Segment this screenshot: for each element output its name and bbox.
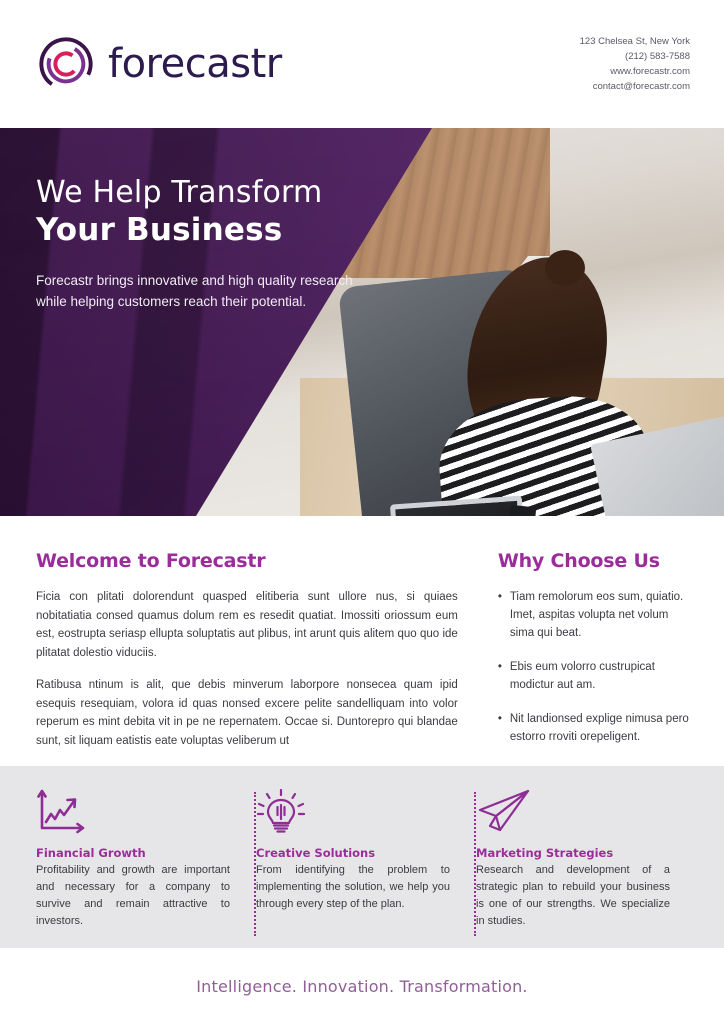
footer-tagline: Intelligence. Innovation. Transformation… [196,977,527,996]
contact-address: 123 Chelsea St, New York [580,34,690,49]
welcome-heading: Welcome to Forecastr [36,550,458,572]
page-header: forecastr 123 Chelsea St, New York (212)… [0,0,724,128]
feature-marketing-strategies: Marketing Strategies Research and develo… [476,788,694,948]
lightbulb-icon [256,788,450,840]
list-item: Tiam remolorum eos sum, quiatio. Imet, a… [498,588,694,642]
why-choose-column: Why Choose Us Tiam remolorum eos sum, qu… [498,550,694,766]
contact-email[interactable]: contact@forecastr.com [580,79,690,94]
welcome-paragraph-1: Ficia con plitati dolorendunt quasped el… [36,588,458,662]
hero-title-line-2: Your Business [36,213,366,249]
feature-creative-solutions: Creative Solutions From identifying the … [256,788,474,948]
content-section: Welcome to Forecastr Ficia con plitati d… [0,516,724,766]
welcome-column: Welcome to Forecastr Ficia con plitati d… [36,550,458,766]
feature-title: Creative Solutions [256,846,450,860]
list-item: Ebis eum volorro custrupicat modictur au… [498,658,694,694]
hero-title-line-1: We Help Transform [36,176,366,211]
brand-name: forecastr [108,44,282,84]
hero-banner: We Help Transform Your Business Forecast… [0,128,724,516]
hero-copy: We Help Transform Your Business Forecast… [36,176,366,312]
growth-chart-icon [36,788,230,840]
features-section: Financial Growth Profitability and growt… [0,766,724,948]
welcome-paragraph-2: Ratibusa ntinum is alit, que debis minve… [36,676,458,750]
contact-info: 123 Chelsea St, New York (212) 583-7588 … [580,34,690,94]
contact-phone[interactable]: (212) 583-7588 [580,49,690,64]
feature-text: From identifying the problem to implemen… [256,862,450,913]
why-choose-list: Tiam remolorum eos sum, quiatio. Imet, a… [498,588,694,746]
feature-title: Marketing Strategies [476,846,670,860]
list-item: Nit landionsed explige nimusa pero estor… [498,710,694,746]
contact-website[interactable]: www.forecastr.com [580,64,690,79]
feature-text: Profitability and growth are important a… [36,862,230,930]
hero-subtitle: Forecastr brings innovative and high qua… [36,270,366,312]
why-choose-heading: Why Choose Us [498,550,694,572]
person-hair-bun [545,250,585,286]
smartphone-right [506,505,537,516]
brand-lockup[interactable]: forecastr [38,36,282,92]
feature-financial-growth: Financial Growth Profitability and growt… [36,788,254,948]
feature-title: Financial Growth [36,846,230,860]
paper-plane-icon [476,788,670,840]
forecastr-logo-icon [38,36,94,92]
feature-text: Research and development of a strategic … [476,862,670,930]
page-footer: Intelligence. Innovation. Transformation… [0,948,724,1025]
